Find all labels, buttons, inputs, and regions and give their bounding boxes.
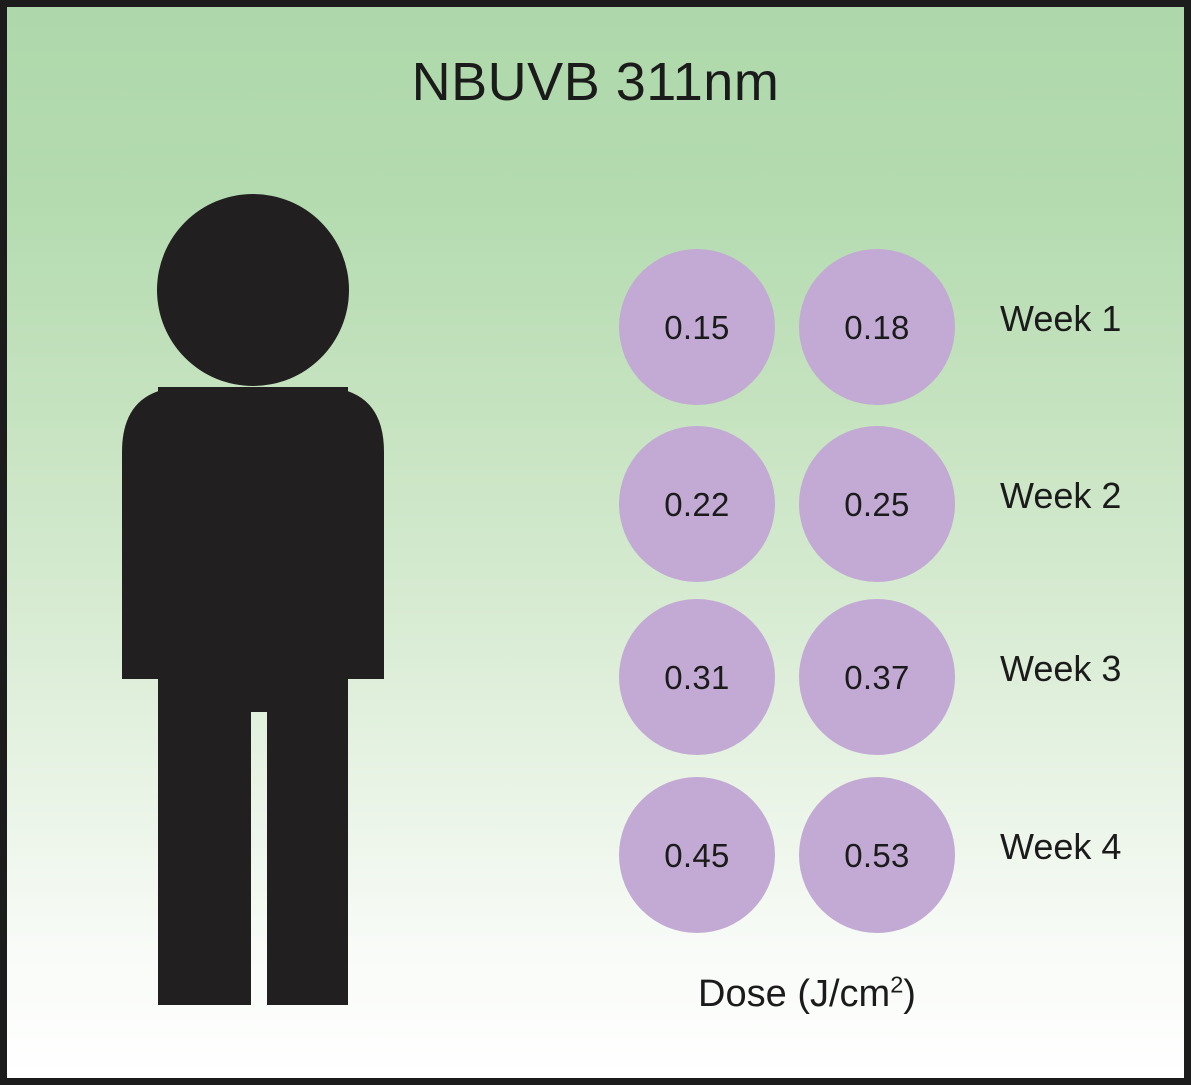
dose-value: 0.18 <box>844 311 909 344</box>
dose-value: 0.22 <box>664 488 729 521</box>
dose-value: 0.15 <box>664 311 729 344</box>
caption-superscript: 2 <box>890 971 903 997</box>
week-label: Week 3 <box>1000 651 1121 687</box>
dose-circle[interactable]: 0.37 <box>799 599 955 755</box>
axis-caption: Dose (J/cm2) <box>607 975 1007 1013</box>
dose-value: 0.45 <box>664 839 729 872</box>
dose-circle[interactable]: 0.53 <box>799 777 955 933</box>
dose-row-week-4: 0.45 0.53 Week 4 <box>607 777 1167 935</box>
week-label: Week 1 <box>1000 301 1121 337</box>
week-label: Week 2 <box>1000 478 1121 514</box>
week-label: Week 4 <box>1000 829 1121 865</box>
dose-row-week-2: 0.22 0.25 Week 2 <box>607 426 1167 584</box>
dose-circle[interactable]: 0.25 <box>799 426 955 582</box>
dose-value: 0.25 <box>844 488 909 521</box>
caption-tail: ) <box>903 973 916 1015</box>
dose-value: 0.53 <box>844 839 909 872</box>
figure-panel: NBUVB 311nm 0.15 0.18 <box>7 7 1184 1078</box>
dose-circle[interactable]: 0.15 <box>619 249 775 405</box>
dose-row-week-3: 0.31 0.37 Week 3 <box>607 599 1167 757</box>
dose-value: 0.31 <box>664 661 729 694</box>
dose-circle[interactable]: 0.45 <box>619 777 775 933</box>
dose-row-week-1: 0.15 0.18 Week 1 <box>607 249 1167 407</box>
dose-grid: 0.15 0.18 Week 1 0.22 0.25 Week 2 0.31 <box>607 247 1167 947</box>
standing-person-silhouette <box>67 192 447 1012</box>
dose-circle[interactable]: 0.18 <box>799 249 955 405</box>
page-title: NBUVB 311nm <box>7 55 1184 109</box>
dose-circle[interactable]: 0.31 <box>619 599 775 755</box>
dose-value: 0.37 <box>844 661 909 694</box>
dose-circle[interactable]: 0.22 <box>619 426 775 582</box>
caption-main: Dose (J/cm <box>698 973 890 1015</box>
figure-root: NBUVB 311nm 0.15 0.18 <box>0 0 1191 1085</box>
